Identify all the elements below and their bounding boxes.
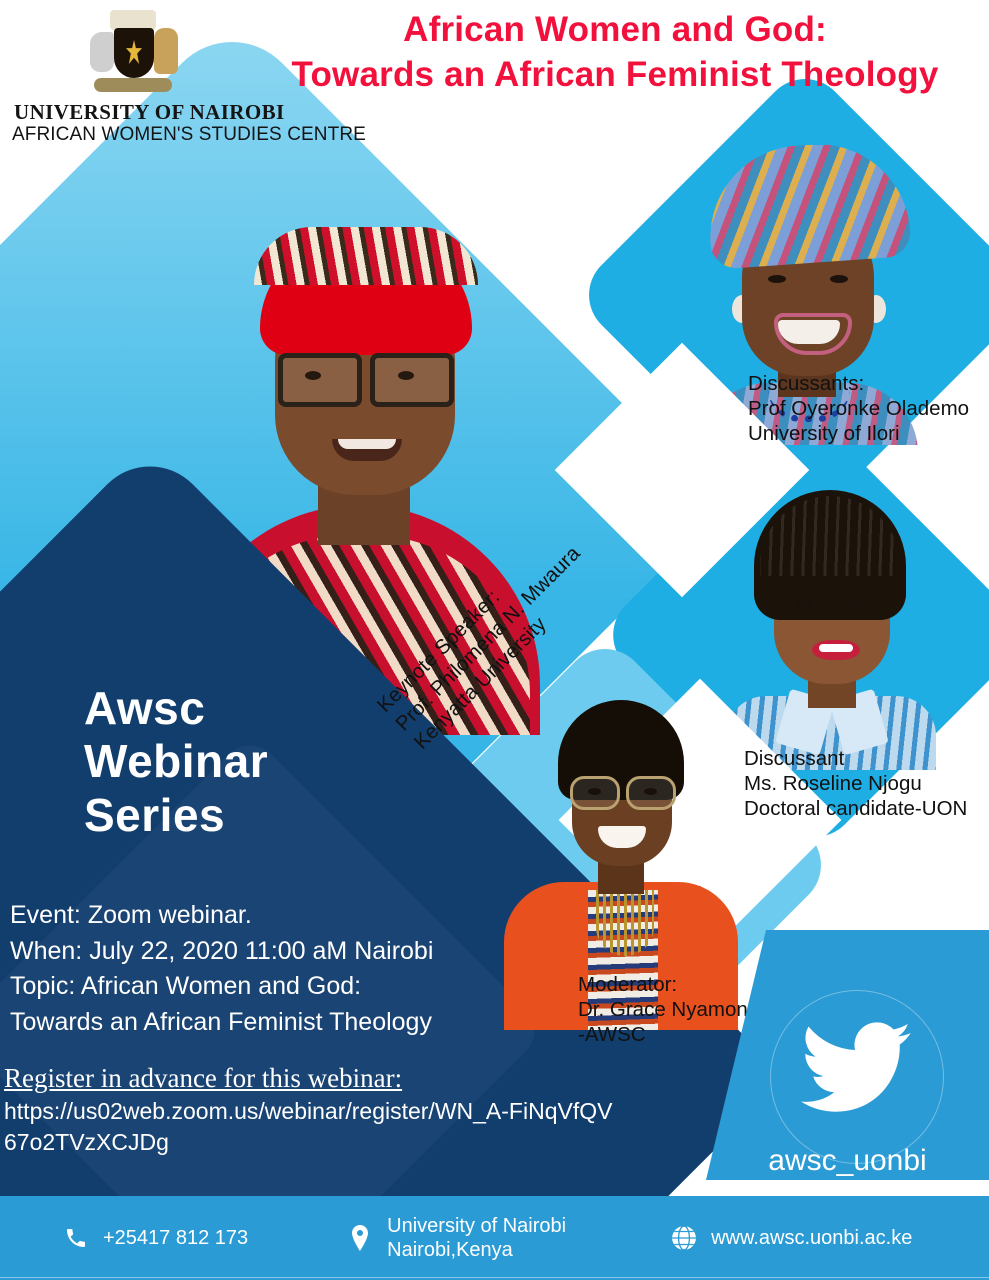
university-crest-icon: [88, 8, 178, 100]
footer-phone[interactable]: +25417 812 173: [62, 1222, 248, 1254]
discussant-one-caption: Discussants: Prof Oyeronke Olademo Unive…: [748, 371, 969, 446]
globe-icon: [670, 1222, 698, 1254]
series-heading: Awsc Webinar Series: [84, 682, 268, 842]
page-title-line-1: African Women and God:: [250, 8, 980, 53]
footer-divider: [0, 1277, 989, 1278]
page-title-line-2: Towards an African Feminist Theology: [250, 53, 980, 98]
phone-icon: [62, 1222, 90, 1254]
webinar-poster: African Women and God: Towards an Africa…: [0, 0, 989, 1280]
event-details: Event: Zoom webinar. When: July 22, 2020…: [10, 898, 433, 1040]
discussant-two-photo: [720, 490, 940, 770]
footer-website-text: www.awsc.uonbi.ac.ke: [711, 1226, 912, 1250]
twitter-handle[interactable]: awsc_uonbi: [706, 1144, 989, 1178]
footer-address-text: University of Nairobi Nairobi,Kenya: [387, 1214, 566, 1262]
registration-url[interactable]: https://us02web.zoom.us/webinar/register…: [4, 1096, 612, 1159]
footer-website[interactable]: www.awsc.uonbi.ac.ke: [670, 1222, 912, 1254]
footer-address: University of Nairobi Nairobi,Kenya: [346, 1214, 566, 1262]
map-pin-icon: [346, 1222, 374, 1254]
footer-bar: +25417 812 173 University of Nairobi Nai…: [0, 1196, 989, 1280]
organisation-unit: AFRICAN WOMEN'S STUDIES CENTRE: [12, 124, 366, 146]
footer-phone-text: +25417 812 173: [103, 1226, 248, 1250]
page-title: African Women and God: Towards an Africa…: [250, 8, 980, 98]
organisation-name: UNIVERSITY OF NAIROBI: [14, 100, 285, 125]
discussant-two-caption: Discussant Ms. Roseline Njogu Doctoral c…: [744, 746, 967, 821]
registration-heading: Register in advance for this webinar:: [4, 1063, 402, 1094]
twitter-bird-icon[interactable]: [793, 1012, 919, 1122]
